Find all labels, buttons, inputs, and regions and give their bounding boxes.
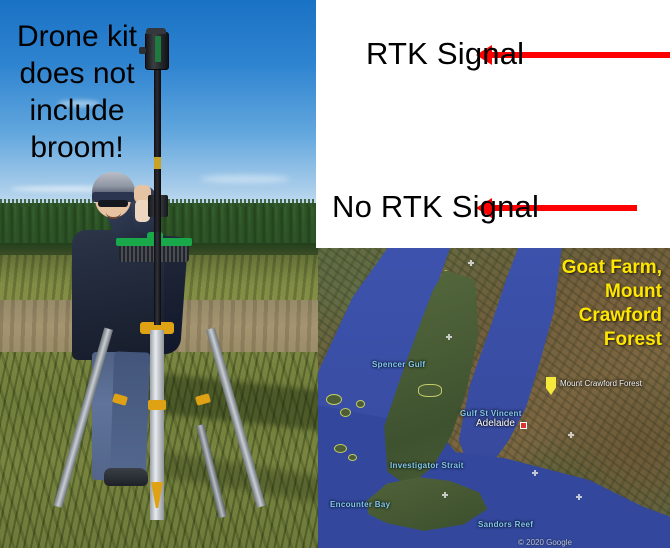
- map-label-adelaide: Adelaide: [476, 418, 515, 429]
- adelaide-marker-dot: [520, 422, 527, 429]
- sunglasses: [98, 200, 128, 207]
- map-title-goat-farm: Goat Farm,MountCrawfordForest: [482, 256, 662, 352]
- person-jeans: [110, 351, 150, 480]
- map-title-line: Mount: [482, 280, 662, 304]
- survey-pole: [154, 60, 161, 232]
- island: [418, 384, 442, 397]
- island: [326, 394, 342, 405]
- tripod-leg-lock: [148, 400, 166, 410]
- map-label-encounter-bay: Encounter Bay: [330, 500, 390, 509]
- field-photo: Drone kit does not include broom!: [0, 0, 318, 548]
- town-marker: [442, 492, 448, 498]
- island: [340, 408, 351, 417]
- label-no-rtk-signal: No RTK Signal: [332, 189, 539, 225]
- broom-note-text: Drone kit does not include broom!: [2, 18, 152, 166]
- town-marker: [576, 494, 582, 500]
- island: [348, 454, 357, 461]
- map-credit: © 2020 Google: [518, 538, 572, 547]
- town-marker: [446, 334, 452, 340]
- map-label-gulf-st-vincent: Gulf St Vincent: [460, 409, 522, 418]
- satellite-map[interactable]: Spencer Gulf Gulf St Vincent Investigato…: [318, 248, 670, 548]
- map-label-investigator-strait: Investigator Strait: [390, 461, 464, 470]
- map-label-spencer-gulf: Spencer Gulf: [372, 360, 425, 369]
- label-rtk-signal: RTK Signal: [366, 36, 524, 72]
- island: [356, 400, 365, 408]
- person-shoe: [104, 468, 148, 486]
- island: [334, 444, 347, 453]
- town-marker: [568, 432, 574, 438]
- map-label-sandors-reef: Sandors Reef: [478, 520, 533, 529]
- map-title-line: Crawford: [482, 304, 662, 328]
- map-title-line: Forest: [482, 328, 662, 352]
- slide-canvas: Drone kit does not include broom! RTK Si…: [0, 0, 670, 548]
- town-marker: [532, 470, 538, 476]
- survey-pole-marker: [154, 157, 161, 169]
- rtk-antenna-indicator: [155, 36, 161, 62]
- map-title-line: Goat Farm,: [482, 256, 662, 280]
- town-marker: [468, 260, 474, 266]
- map-label-mount-crawford-forest: Mount Crawford Forest: [560, 379, 642, 388]
- cloud: [200, 175, 290, 183]
